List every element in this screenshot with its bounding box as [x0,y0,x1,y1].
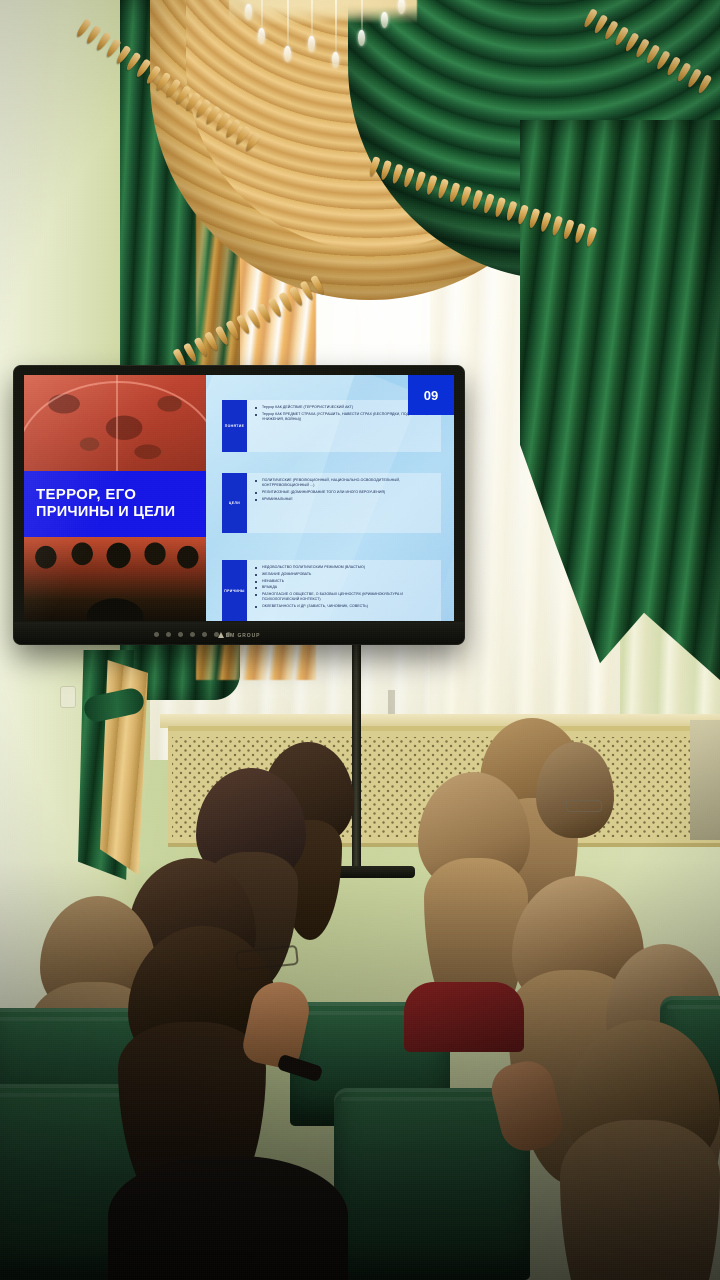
slide-title-block: ТЕРРОР, ЕГО ПРИЧИНЫ И ЦЕЛИ [24,471,206,537]
display-bezel-bottom: BM GROUP [14,622,464,644]
slide-title-line1: ТЕРРОР, ЕГО [36,486,206,504]
chandelier-crystal-drop [358,30,365,46]
bullet-item: НЕДОВОЛЬСТВО ПОЛИТИЧЕСКИМ РЕЖИМОМ (ВЛАСТ… [255,565,435,570]
slide-title-line2: ПРИЧИНЫ И ЦЕЛИ [36,504,206,522]
chandelier-crystal-drop [381,12,388,28]
crosshair-vertical-line [116,375,118,471]
display-brand-logo: BM GROUP [14,632,464,639]
chandelier [215,0,430,114]
brand-triangle-icon [218,632,224,638]
slide-left-column: ТЕРРОР, ЕГО ПРИЧИНЫ И ЦЕЛИ [24,375,206,621]
section-label-chip: ПОНЯТИЕ [222,400,247,452]
audience-head-with-glasses [536,742,614,838]
bullet-item: ВРАЖДА [255,585,435,590]
chandelier-crystal-drop [258,28,265,44]
section-bullet-list: ПОЛИТИЧЕСКИЕ (РЕВОЛЮЦИОННЫЙ, НАЦИОНАЛЬНО… [255,478,435,502]
audience-shoulders [108,1156,348,1280]
bullet-item: ПОЛИТИЧЕСКИЕ (РЕВОЛЮЦИОННЫЙ, НАЦИОНАЛЬНО… [255,478,435,489]
section-bullet-band: НЕДОВОЛЬСТВО ПОЛИТИЧЕСКИМ РЕЖИМОМ (ВЛАСТ… [247,560,441,621]
masked-figures-image [24,537,206,621]
chandelier-crystal-drop [332,52,339,68]
slide-section-goals: ЦЕЛИ ПОЛИТИЧЕСКИЕ (РЕВОЛЮЦИОННЫЙ, НАЦИОН… [222,473,441,533]
chandelier-strand [287,0,289,48]
bullet-item: РЕЛИГИОЗНЫЕ (ДОМИНИРОВАНИЕ ТОГО ИЛИ ИНОГ… [255,490,435,495]
chandelier-strand [311,0,313,38]
chandelier-strand [361,0,363,32]
chandelier-crystal-drop [245,4,252,20]
lecture-hall-photo: ТЕРРОР, ЕГО ПРИЧИНЫ И ЦЕЛИ 09 ПОНЯТИЕ Те… [0,0,720,1280]
bullet-item: ОКЛЕВЕТАННОСТЬ И ДР. (ЗАВИСТЬ, ЧИНОВНИК,… [255,604,435,609]
section-bullet-list: НЕДОВОЛЬСТВО ПОЛИТИЧЕСКИМ РЕЖИМОМ (ВЛАСТ… [255,565,435,609]
audience-clothing-red [404,982,524,1052]
section-bullet-band: ПОЛИТИЧЕСКИЕ (РЕВОЛЮЦИОННЫЙ, НАЦИОНАЛЬНО… [247,473,441,533]
audience-hair [560,1120,720,1280]
bullet-item: НЕНАВИСТЬ [255,579,435,584]
chandelier-crystal-drop [284,46,291,62]
chandelier-body [229,0,417,30]
chandelier-strand [335,0,337,54]
presentation-display[interactable]: ТЕРРОР, ЕГО ПРИЧИНЫ И ЦЕЛИ 09 ПОНЯТИЕ Те… [14,366,464,644]
slide-number-badge: 09 [408,375,454,415]
brand-logo-text: BM GROUP [226,633,261,639]
section-label-chip: ЦЕЛИ [222,473,247,533]
slide-right-column: 09 ПОНЯТИЕ Террор КАК ДЕЙСТВИЕ (ТЕРРОРИС… [206,375,454,621]
section-label-chip: ПРИЧИНЫ [222,560,247,621]
display-screen[interactable]: ТЕРРОР, ЕГО ПРИЧИНЫ И ЦЕЛИ 09 ПОНЯТИЕ Те… [24,375,454,621]
bullet-item: КРИМИНАЛЬНЫЕ [255,497,435,502]
chandelier-crystal-drop [308,36,315,52]
world-map-crosshair-image [24,375,206,471]
chandelier-strand [261,0,263,30]
bullet-item: ЖЕЛАНИЕ ДОМИНИРОВАТЬ [255,572,435,577]
audience-area [0,690,720,1280]
slide-section-causes: ПРИЧИНЫ НЕДОВОЛЬСТВО ПОЛИТИЧЕСКИМ РЕЖИМО… [222,560,441,621]
eyeglasses-icon [566,800,602,812]
bullet-item: РАЗНОГЛАСИЕ О ОБЩЕСТВЕ, О БАЗОВЫХ ЦЕННОС… [255,592,435,603]
